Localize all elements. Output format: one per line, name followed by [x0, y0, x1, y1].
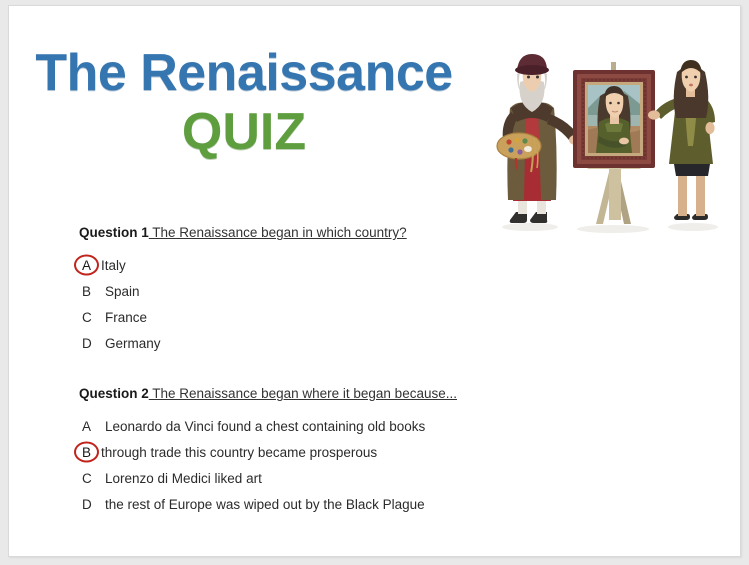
option-a-text: Italy	[101, 258, 126, 273]
question-2-label: Question 2	[79, 386, 149, 401]
question-1-text: The Renaissance began in which country?	[149, 225, 407, 240]
woman-model-figure	[648, 60, 715, 220]
option-letter-b: B	[79, 445, 101, 460]
option-letter-a: A	[79, 258, 101, 273]
question-2-option-d[interactable]: D the rest of Europe was wiped out by th…	[79, 491, 639, 517]
question-2-text: The Renaissance began where it began bec…	[149, 386, 457, 401]
quiz-page: The Renaissance QUIZ	[8, 5, 741, 557]
option-letter-c: C	[79, 471, 101, 486]
renaissance-illustration	[487, 46, 737, 236]
option-letter-a-text: A	[82, 258, 91, 273]
option-letter-d: D	[79, 336, 101, 351]
title-main-line: The Renaissance	[9, 46, 479, 101]
question-2-option-c[interactable]: C Lorenzo di Medici liked art	[79, 465, 639, 491]
option-letter-b-text: B	[82, 445, 91, 460]
option-b-text: Spain	[101, 284, 140, 299]
question-1-label: Question 1	[79, 225, 149, 240]
option-d-text: the rest of Europe was wiped out by the …	[101, 497, 425, 512]
option-letter-c: C	[79, 310, 101, 325]
option-letter-d: D	[79, 497, 101, 512]
question-2-option-a[interactable]: A Leonardo da Vinci found a chest contai…	[79, 413, 639, 439]
option-b-text: through trade this country became prospe…	[101, 445, 377, 460]
option-letter-b: B	[79, 284, 101, 299]
option-d-text: Germany	[101, 336, 161, 351]
question-1-option-d[interactable]: D Germany	[79, 330, 639, 356]
title-sub-line: QUIZ	[9, 105, 479, 160]
option-c-text: Lorenzo di Medici liked art	[101, 471, 262, 486]
page-title: The Renaissance QUIZ	[9, 46, 479, 159]
option-a-text: Leonardo da Vinci found a chest containi…	[101, 419, 425, 434]
easel-with-mona-lisa	[573, 62, 655, 224]
question-1-option-a[interactable]: A Italy	[79, 252, 639, 278]
question-2-option-b[interactable]: B through trade this country became pros…	[79, 439, 639, 465]
question-2-heading: Question 2 The Renaissance began where i…	[79, 386, 639, 401]
question-1-option-b[interactable]: B Spain	[79, 278, 639, 304]
question-1-option-c[interactable]: C France	[79, 304, 639, 330]
option-letter-a: A	[79, 419, 101, 434]
question-block-1: Question 1 The Renaissance began in whic…	[79, 225, 639, 356]
question-1-heading: Question 1 The Renaissance began in whic…	[79, 225, 639, 240]
question-block-2: Question 2 The Renaissance began where i…	[79, 386, 639, 517]
option-c-text: France	[101, 310, 147, 325]
